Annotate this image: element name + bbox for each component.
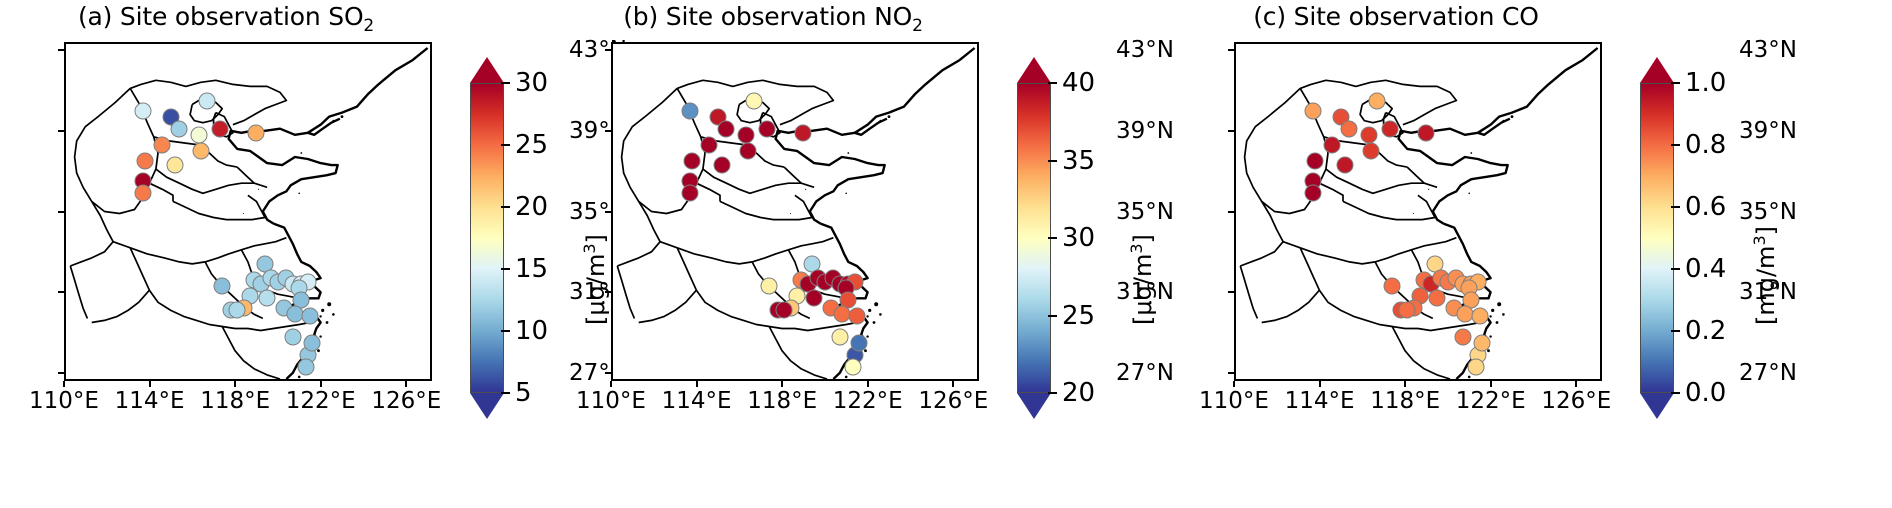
- site-observation-point: [1384, 278, 1401, 295]
- site-observation-point: [1474, 334, 1491, 351]
- colorbar-tick-label: 35: [1062, 146, 1095, 176]
- province-border: [1319, 183, 1343, 201]
- site-observation-point: [682, 102, 699, 119]
- panel-title-text: (a) Site observation SO: [78, 2, 363, 31]
- colorbar-tickmark: [1671, 330, 1680, 332]
- colorbar-unit-bracket: ]: [1129, 234, 1157, 243]
- colorbar-unit-label: [mg/m3]: [1750, 226, 1780, 325]
- colorbar-tick-label: 25: [515, 130, 548, 160]
- colorbar-tick-label: 0.6: [1685, 192, 1726, 222]
- province-border: [617, 266, 634, 318]
- colorbar-tickmark: [1671, 82, 1680, 84]
- province-border: [248, 195, 265, 217]
- y-axis-tick-label: 27°N: [1115, 360, 1174, 386]
- y-axis-tick-label: 39°N: [1115, 118, 1174, 144]
- colorbar-tickmark: [1048, 237, 1057, 239]
- site-observation-point: [1305, 102, 1322, 119]
- colorbar-tickmark: [501, 206, 510, 208]
- colorbar-extend-min-arrow: [1017, 393, 1051, 419]
- colorbar-b: 2025303540[μg/m3]: [1017, 57, 1051, 419]
- island-marker: [1496, 321, 1499, 324]
- coastline: [855, 48, 975, 135]
- province-border: [1418, 195, 1435, 217]
- y-axis-tickmark: [1228, 130, 1234, 132]
- colorbar-tick-label: 0.2: [1685, 316, 1726, 346]
- colorbar-tick-label: 1.0: [1685, 68, 1726, 98]
- y-axis-tick-label: 39°N: [1738, 118, 1797, 144]
- site-observation-point: [795, 124, 812, 141]
- x-axis-tick-label: 110°E: [1199, 388, 1269, 414]
- province-border: [1407, 167, 1424, 183]
- x-axis-tickmark: [405, 381, 407, 387]
- x-axis-tick-label: 122°E: [833, 388, 903, 414]
- x-axis-tick-label: 118°E: [747, 388, 817, 414]
- y-axis-tickmark: [1228, 372, 1234, 374]
- map-axes-b: [611, 42, 979, 381]
- island-marker: [317, 349, 320, 352]
- map-basemap: [1236, 44, 1602, 381]
- x-axis-tickmark: [234, 381, 236, 387]
- x-axis-tick-label: 114°E: [1285, 388, 1355, 414]
- province-border: [784, 167, 801, 183]
- coastline: [1478, 48, 1598, 135]
- site-observation-point: [1360, 126, 1377, 143]
- island-marker: [874, 302, 878, 306]
- colorbar-extend-min-arrow: [1640, 393, 1674, 419]
- y-axis-tickmark: [1228, 211, 1234, 213]
- y-axis-tickmark: [58, 49, 64, 51]
- site-observation-point: [806, 290, 823, 307]
- island-marker: [847, 152, 849, 154]
- site-observation-point: [199, 92, 216, 109]
- island-marker: [873, 321, 876, 324]
- colorbar-gradient: [1640, 83, 1674, 393]
- island-marker: [879, 120, 881, 122]
- island-marker: [292, 380, 294, 381]
- colorbar-c: 0.00.20.40.60.81.0[mg/m3]: [1640, 57, 1674, 419]
- x-axis-tickmark: [1233, 381, 1235, 387]
- island-marker: [864, 349, 867, 352]
- y-axis-tick-label: 43°N: [1115, 37, 1174, 63]
- island-marker: [1497, 302, 1501, 306]
- island-marker: [839, 380, 841, 381]
- province-border: [696, 183, 720, 201]
- site-observation-point: [248, 124, 265, 141]
- province-border: [237, 167, 254, 183]
- island-marker: [1470, 152, 1472, 154]
- site-observation-point: [737, 126, 754, 143]
- site-observation-point: [1418, 124, 1435, 141]
- site-observation-point: [135, 102, 152, 119]
- coastline: [776, 129, 885, 224]
- y-axis-tick-label: 43°N: [1738, 37, 1797, 63]
- x-axis-tick-label: 126°E: [918, 388, 988, 414]
- colorbar-tickmark: [1671, 268, 1680, 270]
- colorbar-a: 51015202530[μg/m3]: [470, 57, 504, 419]
- province-border: [222, 327, 280, 380]
- site-observation-point: [746, 92, 763, 109]
- site-observation-point: [1369, 92, 1386, 109]
- panel-title-c: (c) Site observation CO: [1170, 2, 1622, 31]
- site-observation-point: [171, 120, 188, 137]
- site-observation-point: [831, 328, 848, 345]
- x-axis-tickmark: [696, 381, 698, 387]
- site-observation-point: [1454, 328, 1471, 345]
- y-axis-tick-label: 35°N: [1738, 199, 1797, 225]
- x-axis-tickmark: [867, 381, 869, 387]
- y-axis-tickmark: [1228, 291, 1234, 293]
- y-axis-tickmark: [58, 291, 64, 293]
- island-marker: [866, 315, 868, 317]
- y-axis-tickmark: [605, 211, 611, 213]
- x-axis-tickmark: [63, 381, 65, 387]
- colorbar-tick-label: 40: [1062, 68, 1095, 98]
- colorbar-gradient: [1017, 83, 1051, 393]
- y-axis-tickmark: [605, 372, 611, 374]
- island-marker: [866, 335, 868, 337]
- coastline: [308, 48, 428, 135]
- province-border: [70, 266, 87, 318]
- province-border: [1343, 201, 1435, 219]
- island-marker: [298, 193, 300, 195]
- map-axes-c: [1234, 42, 1602, 381]
- island-marker: [1413, 213, 1414, 214]
- province-border: [720, 201, 812, 219]
- x-axis-tickmark: [320, 381, 322, 387]
- island-marker: [805, 189, 806, 190]
- site-observation-point: [135, 185, 152, 202]
- panel-title-subscript: 2: [912, 16, 923, 36]
- island-marker: [332, 120, 334, 122]
- site-observation-point: [190, 126, 207, 143]
- colorbar-tick-label: 20: [515, 192, 548, 222]
- site-observation-point: [1429, 290, 1446, 307]
- island-marker: [321, 309, 324, 312]
- panel-a: (a) Site observation SO227°N31°N35°N39°N…: [0, 0, 627, 508]
- island-marker: [1462, 380, 1464, 381]
- x-axis-tick-label: 126°E: [371, 388, 441, 414]
- site-observation-point: [1362, 142, 1379, 159]
- island-marker: [1489, 335, 1491, 337]
- island-marker: [243, 213, 244, 214]
- island-marker: [319, 335, 321, 337]
- y-axis-tickmark: [58, 130, 64, 132]
- x-axis-tick-label: 126°E: [1541, 388, 1611, 414]
- province-border: [149, 183, 173, 201]
- y-axis-tickmark: [1228, 49, 1234, 51]
- colorbar-gradient: [470, 83, 504, 393]
- site-observation-point: [229, 302, 246, 319]
- colorbar-tick-label: 5: [515, 378, 532, 408]
- site-observation-point: [739, 142, 756, 159]
- province-border: [1262, 290, 1320, 322]
- province-border: [769, 327, 827, 380]
- map-axes-a: [64, 42, 432, 381]
- y-axis-tickmark: [605, 49, 611, 51]
- site-observation-point: [1467, 358, 1484, 375]
- colorbar-unit-text: [mg/m: [1752, 245, 1780, 324]
- island-marker: [1468, 376, 1471, 379]
- site-observation-point: [154, 136, 171, 153]
- province-border: [795, 195, 812, 217]
- colorbar-extend-min-arrow: [470, 393, 504, 419]
- province-border: [92, 290, 150, 322]
- island-marker: [1468, 193, 1470, 195]
- island-marker: [845, 193, 847, 195]
- x-axis-tickmark: [1404, 381, 1406, 387]
- island-marker: [845, 376, 848, 379]
- colorbar-tick-label: 15: [515, 254, 548, 284]
- site-observation-point: [1471, 308, 1488, 325]
- x-axis-tick-label: 114°E: [115, 388, 185, 414]
- x-axis-tick-label: 114°E: [662, 388, 732, 414]
- colorbar-tickmark: [501, 330, 510, 332]
- province-border: [639, 290, 697, 322]
- colorbar-tickmark: [1048, 82, 1057, 84]
- colorbar-unit-label: [μg/m3]: [1127, 234, 1157, 325]
- island-marker: [332, 313, 335, 316]
- colorbar-tick-label: 30: [515, 68, 548, 98]
- y-axis-tick-label: 35°N: [1115, 199, 1174, 225]
- island-marker: [300, 152, 302, 154]
- island-marker: [790, 213, 791, 214]
- colorbar-tick-label: 0.4: [1685, 254, 1726, 284]
- colorbar-unit-exponent: 3: [1127, 243, 1146, 253]
- y-axis-tick-label: 27°N: [1738, 360, 1797, 386]
- site-observation-point: [167, 157, 184, 174]
- x-axis-tickmark: [610, 381, 612, 387]
- colorbar-tickmark: [1671, 392, 1680, 394]
- y-axis-tickmark: [605, 291, 611, 293]
- colorbar-tickmark: [501, 392, 510, 394]
- site-observation-point: [1341, 120, 1358, 137]
- panel-title-b: (b) Site observation NO2: [547, 2, 999, 36]
- colorbar-unit-bracket: ]: [1752, 226, 1780, 235]
- colorbar-extend-max-arrow: [1017, 57, 1051, 83]
- colorbar-tick-label: 0.8: [1685, 130, 1726, 160]
- x-axis-tickmark: [149, 381, 151, 387]
- site-observation-point: [851, 334, 868, 351]
- site-observation-point: [718, 120, 735, 137]
- site-observation-point: [1399, 302, 1416, 319]
- island-marker: [298, 376, 301, 379]
- x-axis-tickmark: [952, 381, 954, 387]
- panel-title-text: (b) Site observation NO: [623, 2, 912, 31]
- colorbar-tickmark: [501, 144, 510, 146]
- island-marker: [341, 115, 344, 118]
- island-marker: [327, 302, 331, 306]
- island-marker: [1511, 115, 1514, 118]
- x-axis-tick-label: 110°E: [29, 388, 99, 414]
- colorbar-tickmark: [1671, 144, 1680, 146]
- island-marker: [1491, 309, 1494, 312]
- colorbar-unit-exponent: 3: [1750, 235, 1769, 245]
- site-observation-point: [761, 278, 778, 295]
- island-marker: [258, 189, 259, 190]
- site-observation-point: [214, 278, 231, 295]
- colorbar-extend-max-arrow: [470, 57, 504, 83]
- colorbar-tickmark: [501, 268, 510, 270]
- site-observation-point: [297, 358, 314, 375]
- site-observation-point: [844, 358, 861, 375]
- colorbar-tick-label: 0.0: [1685, 378, 1726, 408]
- x-axis-tickmark: [1575, 381, 1577, 387]
- x-axis-tick-label: 110°E: [576, 388, 646, 414]
- x-axis-tick-label: 118°E: [1370, 388, 1440, 414]
- site-observation-point: [259, 290, 276, 307]
- site-observation-point: [714, 157, 731, 174]
- site-observation-point: [684, 153, 701, 170]
- x-axis-tickmark: [1319, 381, 1321, 387]
- colorbar-extend-max-arrow: [1640, 57, 1674, 83]
- island-marker: [868, 309, 871, 312]
- site-observation-point: [759, 120, 776, 137]
- site-observation-point: [284, 328, 301, 345]
- panel-c: (c) Site observation CO27°N31°N35°N39°N4…: [1170, 0, 1797, 508]
- y-axis-tickmark: [58, 211, 64, 213]
- province-border: [1240, 266, 1257, 318]
- colorbar-tickmark: [1048, 315, 1057, 317]
- x-axis-tick-label: 118°E: [200, 388, 270, 414]
- island-marker: [888, 115, 891, 118]
- site-observation-point: [212, 120, 229, 137]
- island-marker: [879, 313, 882, 316]
- colorbar-tick-label: 10: [515, 316, 548, 346]
- panel-title-text: (c) Site observation CO: [1253, 2, 1538, 31]
- y-axis-tickmark: [58, 372, 64, 374]
- x-axis-tickmark: [781, 381, 783, 387]
- panel-title-subscript: 2: [363, 16, 374, 36]
- island-marker: [319, 315, 321, 317]
- island-marker: [1487, 349, 1490, 352]
- province-border: [173, 201, 265, 219]
- colorbar-tickmark: [1671, 206, 1680, 208]
- site-observation-point: [1337, 157, 1354, 174]
- site-observation-point: [848, 308, 865, 325]
- colorbar-tick-label: 30: [1062, 223, 1095, 253]
- map-basemap: [613, 44, 979, 381]
- province-border: [1392, 327, 1450, 380]
- colorbar-tickmark: [501, 82, 510, 84]
- site-observation-point: [682, 185, 699, 202]
- island-marker: [326, 321, 329, 324]
- site-observation-point: [776, 302, 793, 319]
- island-marker: [1502, 120, 1504, 122]
- colorbar-tickmark: [1048, 392, 1057, 394]
- site-observation-point: [1305, 185, 1322, 202]
- island-marker: [1502, 313, 1505, 316]
- site-observation-point: [192, 142, 209, 159]
- y-axis-tickmark: [605, 130, 611, 132]
- colorbar-tick-label: 25: [1062, 301, 1095, 331]
- island-marker: [1489, 315, 1491, 317]
- coastline: [1399, 129, 1508, 224]
- coastline: [229, 129, 338, 224]
- colorbar-unit-text: [μg/m: [1129, 253, 1157, 324]
- colorbar-tickmark: [1048, 160, 1057, 162]
- site-observation-point: [1382, 120, 1399, 137]
- x-axis-tick-label: 122°E: [1456, 388, 1526, 414]
- x-axis-tick-label: 122°E: [286, 388, 356, 414]
- site-observation-point: [137, 153, 154, 170]
- site-observation-point: [1324, 136, 1341, 153]
- site-observation-point: [1307, 153, 1324, 170]
- island-marker: [1428, 189, 1429, 190]
- map-basemap: [66, 44, 432, 381]
- panel-b: (b) Site observation NO227°N31°N35°N39°N…: [547, 0, 1174, 508]
- x-axis-tickmark: [1490, 381, 1492, 387]
- site-observation-point: [701, 136, 718, 153]
- colorbar-tick-label: 20: [1062, 378, 1095, 408]
- site-observation-point: [304, 334, 321, 351]
- figure-canvas: (a) Site observation SO227°N31°N35°N39°N…: [0, 0, 1892, 508]
- site-observation-point: [301, 308, 318, 325]
- panel-title-a: (a) Site observation SO2: [0, 2, 452, 36]
